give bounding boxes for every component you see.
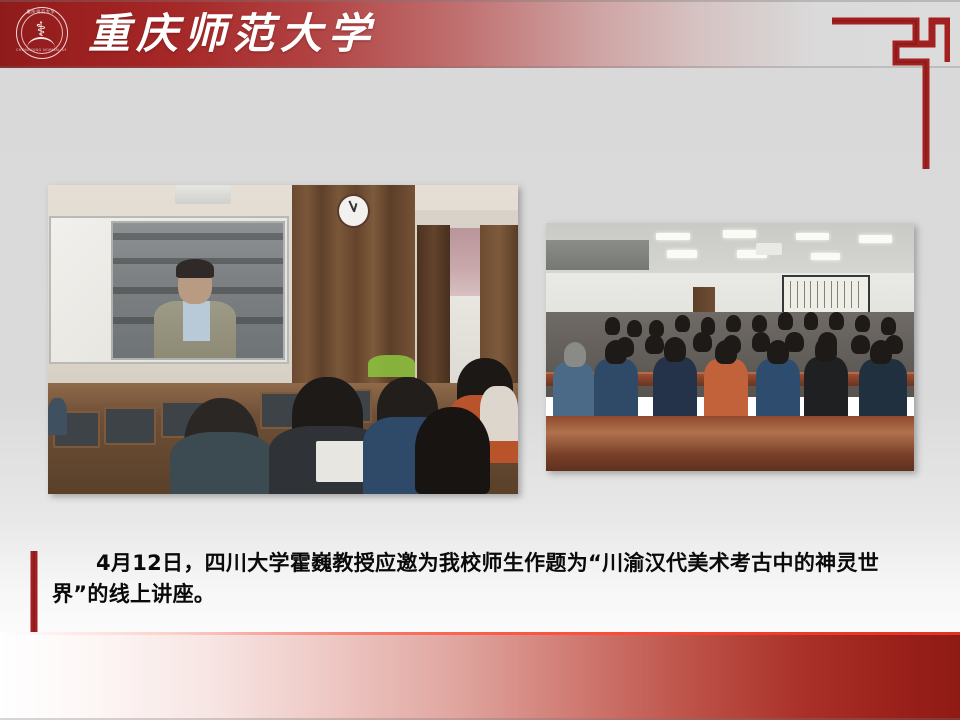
classroom-green-chairs — [368, 355, 415, 377]
ceiling-light — [656, 233, 689, 240]
presentation-slide: 重庆师范大学 ⚕ CHONGQING NORMAL UNIVERSITY 重庆师… — [0, 0, 960, 720]
audience-front-head — [870, 340, 892, 365]
audience-member — [605, 317, 620, 334]
audience-member — [804, 312, 819, 329]
audience-front-member — [704, 359, 748, 416]
audience-member — [726, 315, 741, 332]
slide-caption: 4月12日，四川大学霍巍教授应邀为我校师生作题为“川渝汉代美术考古中的神灵世界”… — [52, 548, 917, 610]
audience-member — [693, 332, 711, 352]
header-top-divider — [0, 0, 960, 2]
audience-front-member — [756, 359, 800, 416]
audience-member — [675, 315, 690, 332]
classroom-projection-screen — [111, 221, 285, 360]
audience-member — [829, 312, 844, 329]
logo-ring-text-bottom: CHONGQING NORMAL UNIVERSITY — [16, 48, 66, 52]
audience-front-head — [767, 340, 789, 365]
screen-speaker-shirt — [183, 301, 210, 342]
classroom-attendee-body — [170, 432, 273, 494]
ceiling-light — [796, 233, 829, 240]
corner-ornament-top-right-icon — [830, 14, 950, 174]
classroom-attendee-paper — [316, 441, 368, 481]
footer-band — [0, 632, 960, 720]
audience-front-head — [715, 340, 737, 365]
audience-front-member — [859, 359, 907, 416]
audience-front-member — [653, 357, 697, 417]
ceiling-light — [723, 230, 756, 237]
lecture-hall-dark-panel — [546, 240, 649, 270]
audience-member — [851, 335, 869, 355]
audience-member — [752, 315, 767, 332]
audience-front-member — [594, 359, 638, 416]
audience-member — [645, 335, 663, 355]
lecture-hall-projector-icon — [756, 243, 782, 255]
photo-classroom-content — [48, 185, 518, 494]
ceiling-light — [859, 235, 892, 242]
audience-member — [855, 315, 870, 332]
classroom-curtain — [450, 228, 481, 296]
lecture-hall-calligraphy-artwork — [782, 275, 870, 315]
ceiling-light — [811, 253, 840, 260]
classroom-attendee-body — [48, 398, 67, 435]
audience-front-head — [815, 337, 837, 362]
photo-classroom-projection — [48, 185, 518, 494]
audience-member — [778, 312, 793, 329]
footer-accent-line — [0, 632, 960, 635]
ceiling-light — [667, 250, 696, 257]
audience-front-head — [564, 342, 586, 367]
photo-audience-content — [546, 223, 914, 471]
classroom-projector-icon — [175, 185, 231, 204]
classroom-wall-clock-icon — [337, 194, 370, 228]
university-title: 重庆师范大学 — [88, 8, 376, 60]
photo-audience-lecture-hall — [546, 223, 914, 471]
university-logo-icon: 重庆师范大学 ⚕ CHONGQING NORMAL UNIVERSITY — [16, 7, 70, 61]
logo-ring-text-top: 重庆师范大学 — [16, 9, 66, 15]
classroom-attendee — [415, 407, 490, 494]
lecture-hall-front-desk — [546, 416, 914, 471]
audience-member — [881, 317, 896, 334]
header-bottom-divider — [0, 66, 960, 68]
audience-front-member — [804, 357, 848, 417]
classroom-chair — [104, 407, 156, 444]
screen-speaker-hair — [176, 259, 213, 278]
audience-front-member — [553, 362, 593, 417]
audience-front-head — [664, 337, 686, 362]
classroom-door-left — [417, 225, 450, 404]
audience-member — [627, 320, 642, 337]
audience-front-head — [605, 340, 627, 365]
